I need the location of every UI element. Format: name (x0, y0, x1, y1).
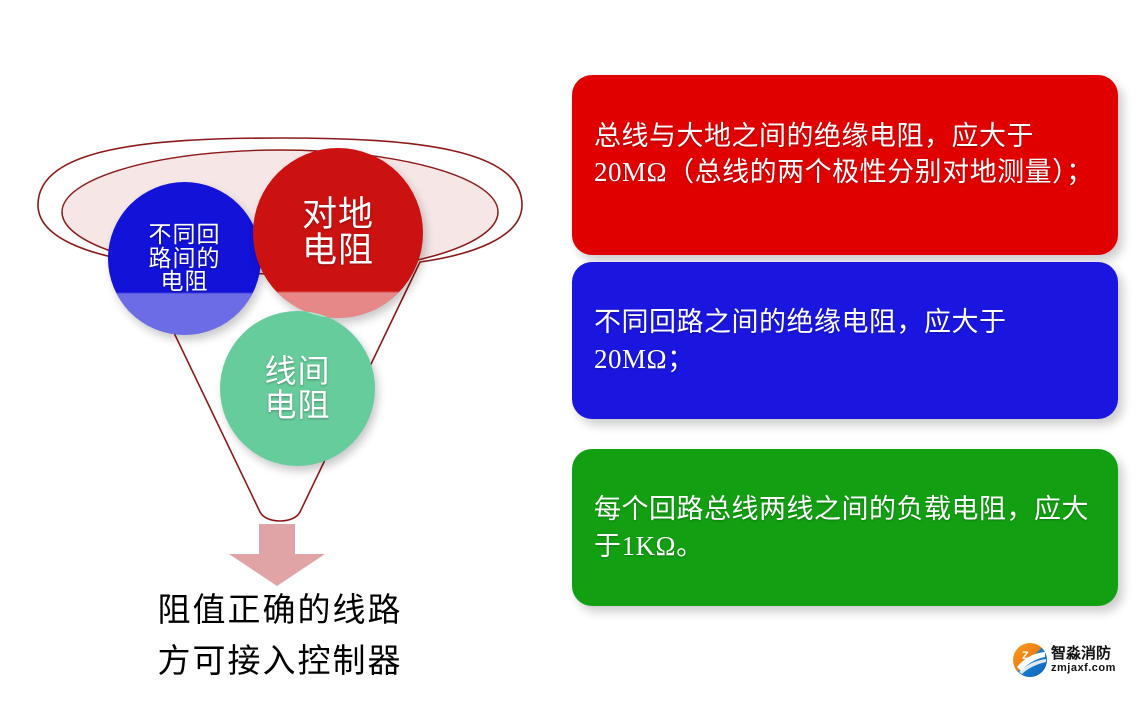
bubble-label-line: 电阻 (264, 389, 330, 422)
callout-text: 每个回路总线两线之间的负载电阻，应大于1KΩ。 (594, 491, 1096, 563)
callout-ground-insulation[interactable]: 总线与大地之间的绝缘电阻，应大于20MΩ（总线的两个极性分别对地测量）； (572, 75, 1118, 255)
bubble-loop-to-loop-resistance[interactable]: 不同回 路间的 电阻 (108, 182, 261, 335)
callout-text: 总线与大地之间的绝缘电阻，应大于20MΩ（总线的两个极性分别对地测量）； (594, 118, 1096, 212)
funnel-caption-line: 方可接入控制器 (0, 637, 560, 688)
logo-wordmark: 智淼消防 zmjaxf.com (1051, 646, 1116, 674)
bubble-ground-resistance[interactable]: 对地 电阻 (253, 148, 423, 318)
down-arrow-icon (225, 524, 329, 586)
logo-domain: zmjaxf.com (1051, 663, 1116, 674)
bubble-line-to-line-resistance[interactable]: 线间 电阻 (220, 311, 375, 466)
watermark-logo[interactable]: Z 智淼消防 zmjaxf.com (1013, 640, 1125, 680)
svg-text:Z: Z (1022, 650, 1029, 662)
bubble-label-line: 电阻 (161, 270, 209, 294)
bubble-label-line: 不同回 (149, 223, 221, 247)
callout-text: 不同回路之间的绝缘电阻，应大于20MΩ； (594, 304, 1096, 376)
logo-swoosh-icon: Z (1013, 643, 1047, 677)
bubble-label-line: 电阻 (302, 233, 374, 269)
zmjaxf-logo-icon: Z (1013, 643, 1047, 677)
bubble-label-line: 路间的 (149, 247, 221, 271)
funnel-diagram: 不同回 路间的 电阻 对地 电阻 线间 电阻 阻值正确的线路 方可接入控制器 (0, 0, 560, 702)
logo-company-name: 智淼消防 (1051, 646, 1116, 661)
funnel-caption: 阻值正确的线路 方可接入控制器 (0, 586, 560, 688)
callout-list: 总线与大地之间的绝缘电阻，应大于20MΩ（总线的两个极性分别对地测量）； 不同回… (568, 0, 1138, 702)
funnel-caption-line: 阻值正确的线路 (0, 586, 560, 637)
callout-loop-insulation[interactable]: 不同回路之间的绝缘电阻，应大于20MΩ； (572, 262, 1118, 419)
callout-load-resistance[interactable]: 每个回路总线两线之间的负载电阻，应大于1KΩ。 (572, 449, 1118, 606)
bubble-label-line: 对地 (302, 197, 374, 233)
bubble-label-line: 线间 (264, 355, 330, 388)
